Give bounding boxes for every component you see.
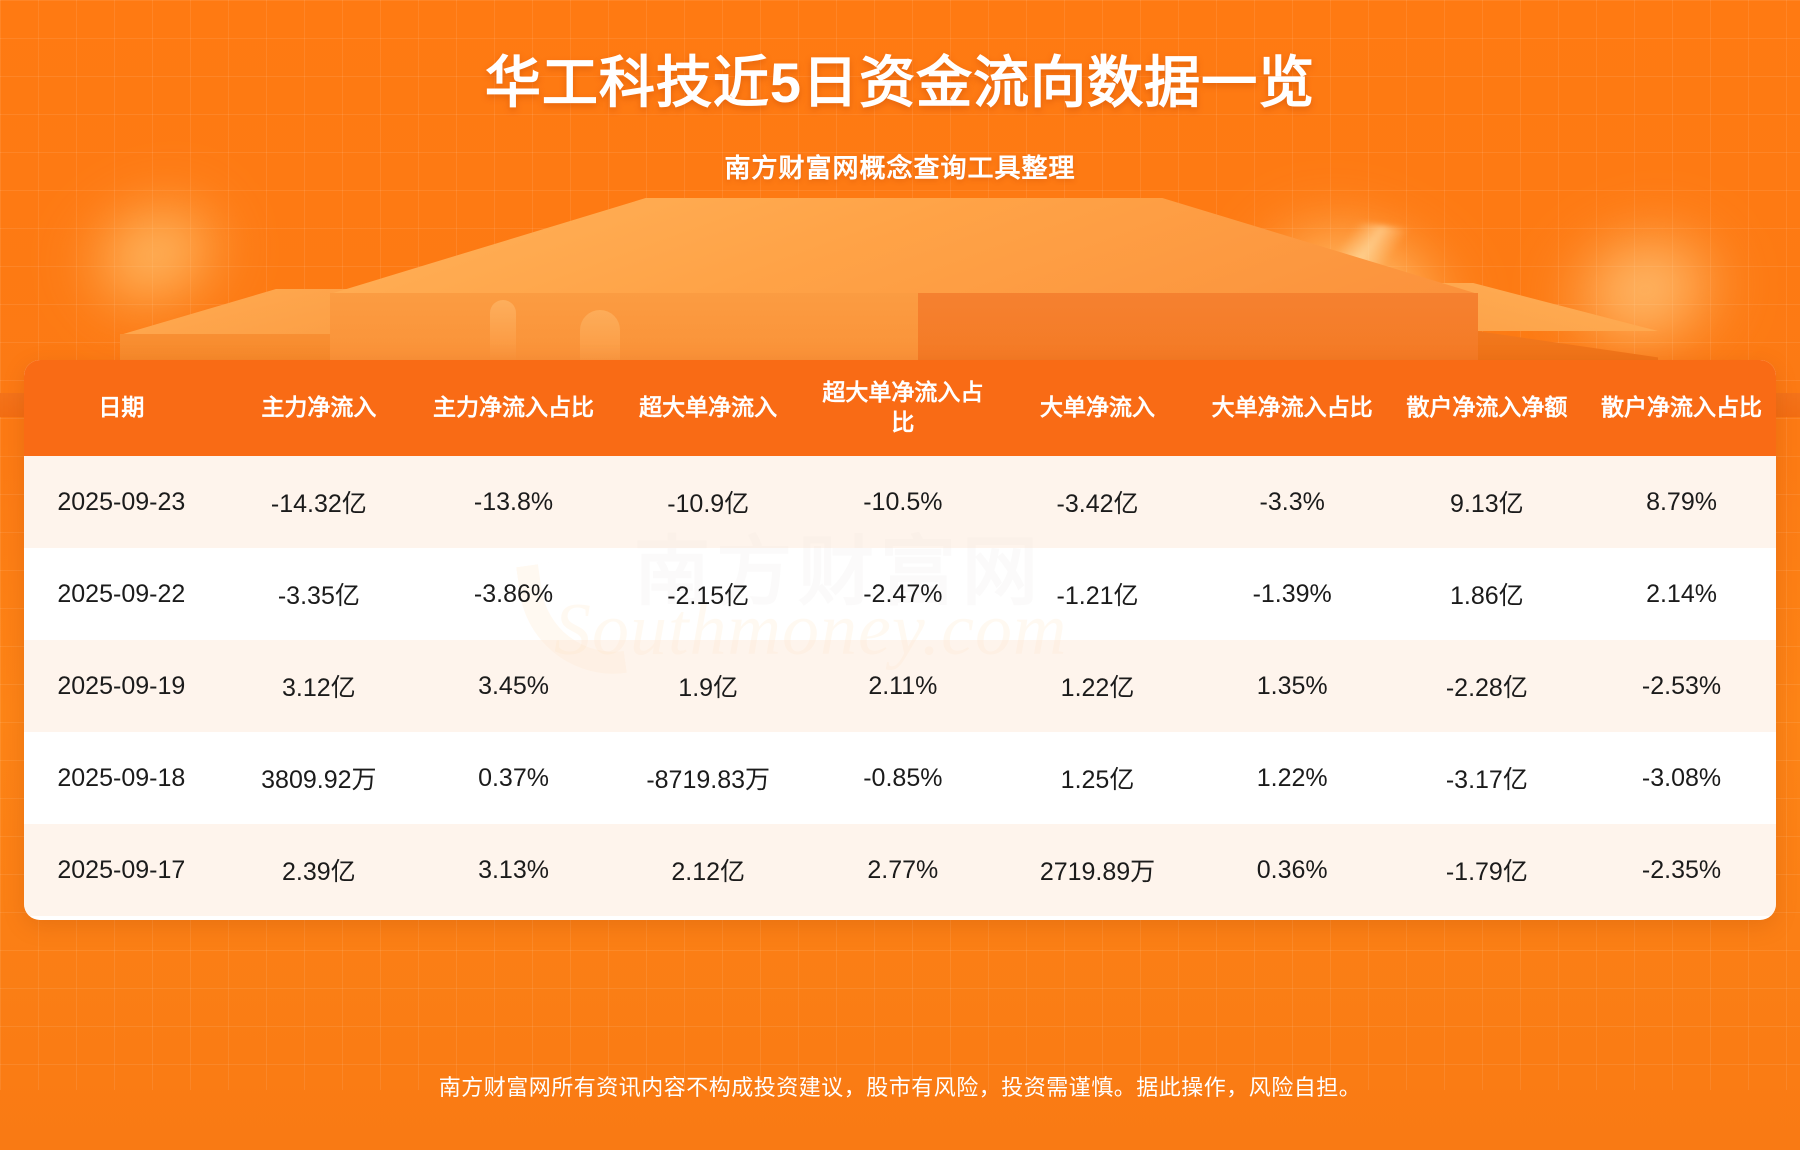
cell-date: 2025-09-19 — [24, 640, 219, 732]
cell-date: 2025-09-18 — [24, 732, 219, 824]
cell-main-net: -14.32亿 — [219, 456, 419, 548]
column-header-main-net[interactable]: 主力净流入 — [219, 360, 419, 456]
cell-retail-pct: -2.53% — [1587, 640, 1776, 732]
column-header-xl-pct[interactable]: 超大单净流入占比 — [808, 360, 997, 456]
table-row[interactable]: 2025-09-19 3.12亿 3.45% 1.9亿 2.11% 1.22亿 … — [24, 640, 1776, 732]
cell-large-pct: -1.39% — [1198, 548, 1387, 640]
cell-date: 2025-09-23 — [24, 456, 219, 548]
column-header-main-pct[interactable]: 主力净流入占比 — [419, 360, 608, 456]
data-table-card: 南方财富网 Southmoney.com 日期 主力净流入 主力净流入占比 超大… — [24, 360, 1776, 920]
cell-main-net: -3.35亿 — [219, 548, 419, 640]
cell-retail-net: -1.79亿 — [1387, 824, 1587, 916]
column-header-large-pct[interactable]: 大单净流入占比 — [1198, 360, 1387, 456]
table-body: 2025-09-23 -14.32亿 -13.8% -10.9亿 -10.5% … — [24, 456, 1776, 916]
cell-main-net: 2.39亿 — [219, 824, 419, 916]
cell-date: 2025-09-22 — [24, 548, 219, 640]
cell-retail-pct: -3.08% — [1587, 732, 1776, 824]
cell-xl-pct: 2.77% — [808, 824, 997, 916]
cell-xl-pct: -0.85% — [808, 732, 997, 824]
cell-large-net: -1.21亿 — [997, 548, 1197, 640]
cell-retail-pct: 8.79% — [1587, 456, 1776, 548]
table-row[interactable]: 2025-09-22 -3.35亿 -3.86% -2.15亿 -2.47% -… — [24, 548, 1776, 640]
column-header-retail-net[interactable]: 散户净流入净额 — [1387, 360, 1587, 456]
cell-retail-net: -2.28亿 — [1387, 640, 1587, 732]
cell-xl-pct: -2.47% — [808, 548, 997, 640]
column-header-large-net[interactable]: 大单净流入 — [997, 360, 1197, 456]
cell-xl-net: 2.12亿 — [608, 824, 808, 916]
cell-xl-net: 1.9亿 — [608, 640, 808, 732]
table-row[interactable]: 2025-09-18 3809.92万 0.37% -8719.83万 -0.8… — [24, 732, 1776, 824]
table-header-row: 日期 主力净流入 主力净流入占比 超大单净流入 超大单净流入占比 大单净流入 大… — [24, 360, 1776, 456]
podium-center-top — [330, 198, 1478, 294]
cell-main-pct: -3.86% — [419, 548, 608, 640]
cell-large-net: 2719.89万 — [997, 824, 1197, 916]
column-header-retail-pct[interactable]: 散户净流入占比 — [1587, 360, 1776, 456]
cell-main-pct: -13.8% — [419, 456, 608, 548]
cell-retail-pct: 2.14% — [1587, 548, 1776, 640]
cell-xl-net: -2.15亿 — [608, 548, 808, 640]
cell-large-pct: 1.22% — [1198, 732, 1387, 824]
cell-main-net: 3809.92万 — [219, 732, 419, 824]
cell-xl-pct: 2.11% — [808, 640, 997, 732]
column-header-date[interactable]: 日期 — [24, 360, 219, 456]
cell-large-net: 1.25亿 — [997, 732, 1197, 824]
column-header-xl-net[interactable]: 超大单净流入 — [608, 360, 808, 456]
cell-main-pct: 0.37% — [419, 732, 608, 824]
cell-retail-net: 1.86亿 — [1387, 548, 1587, 640]
cell-retail-net: 9.13亿 — [1387, 456, 1587, 548]
page-subtitle: 南方财富网概念查询工具整理 — [0, 148, 1800, 185]
cell-large-pct: 1.35% — [1198, 640, 1387, 732]
cell-main-pct: 3.13% — [419, 824, 608, 916]
cell-retail-net: -3.17亿 — [1387, 732, 1587, 824]
table-header: 日期 主力净流入 主力净流入占比 超大单净流入 超大单净流入占比 大单净流入 大… — [24, 360, 1776, 456]
cell-xl-pct: -10.5% — [808, 456, 997, 548]
cell-large-net: 1.22亿 — [997, 640, 1197, 732]
cell-large-pct: -3.3% — [1198, 456, 1387, 548]
cell-xl-net: -10.9亿 — [608, 456, 808, 548]
table-row[interactable]: 2025-09-23 -14.32亿 -13.8% -10.9亿 -10.5% … — [24, 456, 1776, 548]
cell-main-net: 3.12亿 — [219, 640, 419, 732]
cell-retail-pct: -2.35% — [1587, 824, 1776, 916]
cell-xl-net: -8719.83万 — [608, 732, 808, 824]
fund-flow-table: 日期 主力净流入 主力净流入占比 超大单净流入 超大单净流入占比 大单净流入 大… — [24, 360, 1776, 916]
disclaimer-text: 南方财富网所有资讯内容不构成投资建议，股市有风险，投资需谨慎。据此操作，风险自担… — [0, 1070, 1800, 1102]
page-title: 华工科技近5日资金流向数据一览 — [0, 38, 1800, 119]
cell-large-net: -3.42亿 — [997, 456, 1197, 548]
cell-main-pct: 3.45% — [419, 640, 608, 732]
cell-large-pct: 0.36% — [1198, 824, 1387, 916]
table-row[interactable]: 2025-09-17 2.39亿 3.13% 2.12亿 2.77% 2719.… — [24, 824, 1776, 916]
cell-date: 2025-09-17 — [24, 824, 219, 916]
podium-arch-left — [490, 300, 516, 362]
